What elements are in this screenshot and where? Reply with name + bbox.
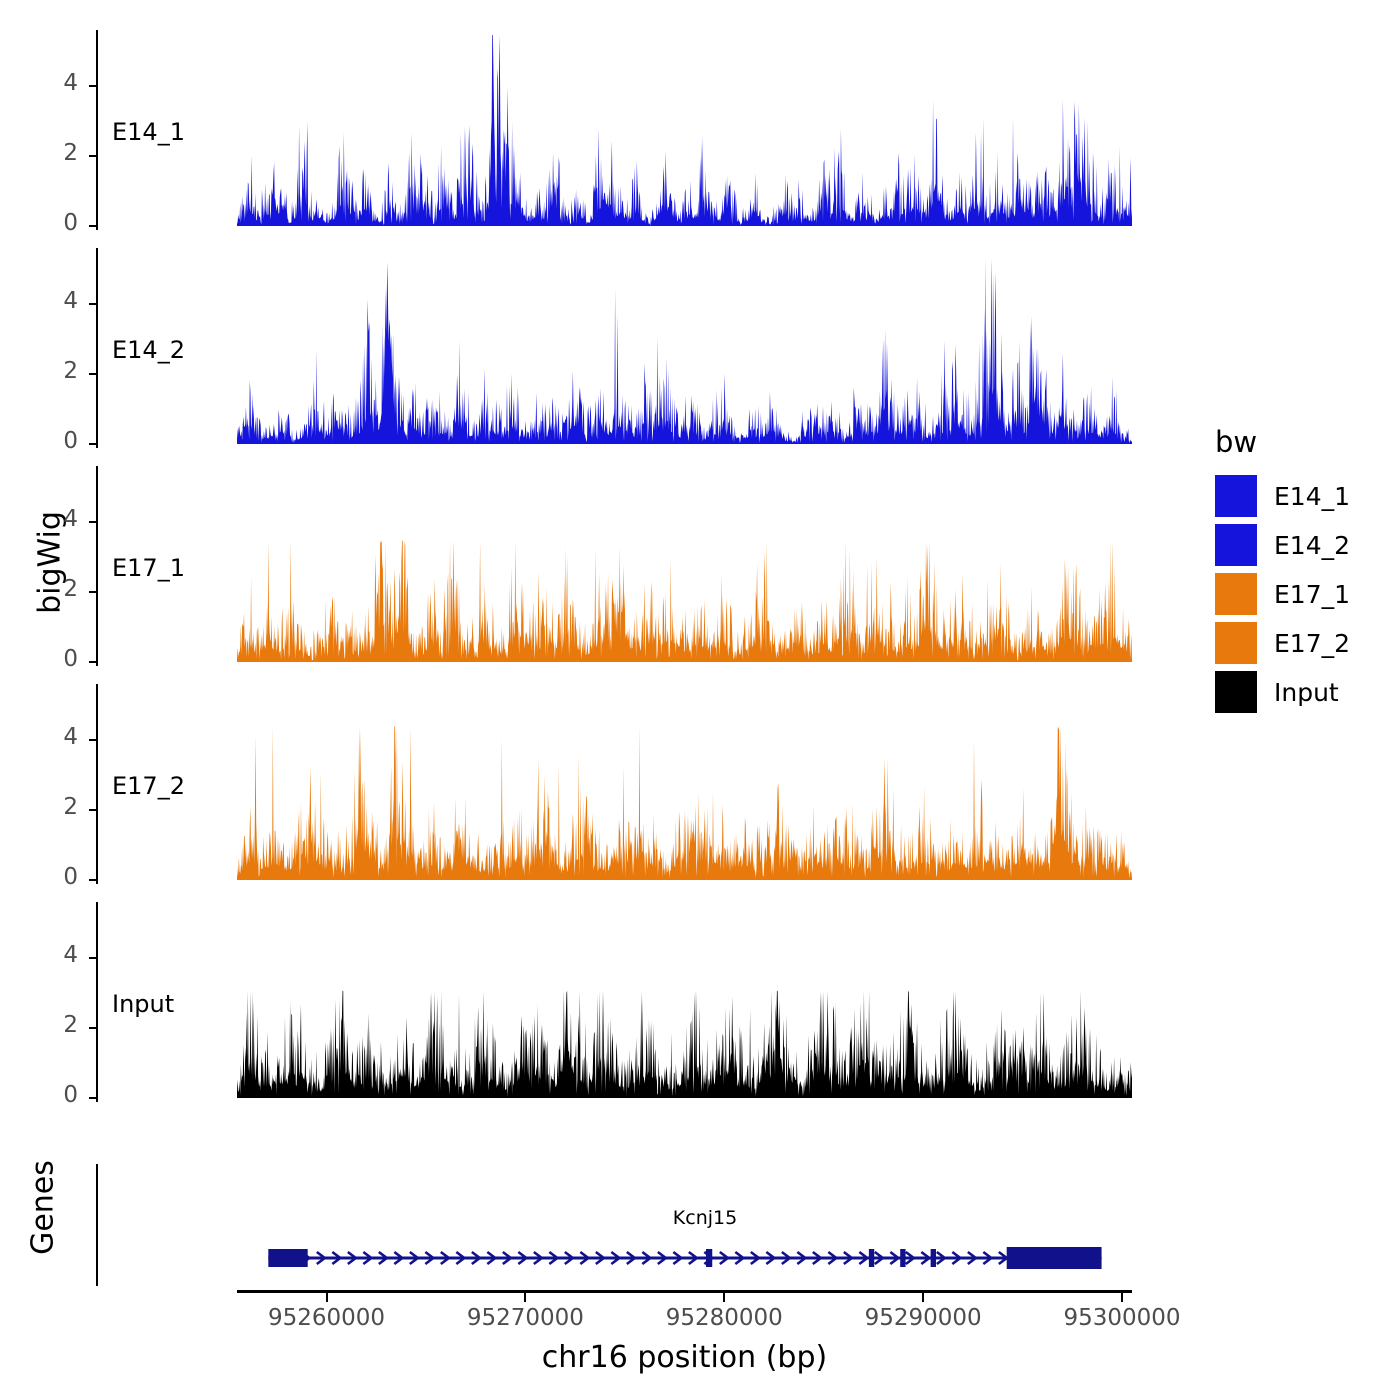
y-tick	[89, 521, 96, 523]
y-tick	[89, 739, 96, 741]
y-tick-label: 4	[16, 288, 78, 314]
signal-area-e17_1	[237, 466, 1132, 664]
y-axis-line	[96, 30, 98, 230]
legend-item-input[interactable]: Input	[1215, 671, 1339, 713]
gene-exon	[706, 1249, 712, 1267]
y-tick-label: 4	[16, 70, 78, 96]
y-tick	[89, 957, 96, 959]
y-tick-label: 2	[16, 358, 78, 384]
y-tick	[89, 879, 96, 881]
x-tick	[723, 1293, 725, 1302]
legend-title: bw	[1215, 425, 1257, 459]
gene-exon	[900, 1249, 905, 1267]
y-tick	[89, 1027, 96, 1029]
x-axis-line	[237, 1290, 1132, 1293]
legend-item-e14_2[interactable]: E14_2	[1215, 524, 1350, 566]
gene-exon	[1007, 1247, 1102, 1269]
y-tick	[89, 661, 96, 663]
x-axis-title: chr16 position (bp)	[237, 1340, 1132, 1375]
track-panel-e17_1: 024E17_1	[0, 466, 1180, 666]
y-tick	[89, 1097, 96, 1099]
legend-label: E17_1	[1274, 580, 1350, 609]
track-panel-e14_2: 024E14_2	[0, 248, 1180, 448]
y-tick-label: 0	[16, 428, 78, 454]
y-tick-label: 0	[16, 646, 78, 672]
genes-axis-line	[96, 1164, 98, 1286]
legend-swatch	[1215, 671, 1257, 713]
x-tick	[524, 1293, 526, 1302]
y-tick-label: 2	[16, 140, 78, 166]
legend: bw E14_1E14_2E17_1E17_2Input	[1205, 425, 1400, 715]
track-label-e17_2: E17_2	[112, 772, 185, 800]
signal-area-e14_1	[237, 30, 1132, 228]
track-label-e17_1: E17_1	[112, 554, 185, 582]
y-tick-label: 4	[16, 724, 78, 750]
signal-area-e14_2	[237, 248, 1132, 446]
y-axis-line	[96, 684, 98, 884]
legend-item-e17_1[interactable]: E17_1	[1215, 573, 1350, 615]
x-tick-label: 95260000	[227, 1305, 427, 1331]
gene-exon	[931, 1249, 936, 1267]
x-tick	[326, 1293, 328, 1302]
legend-label: E14_1	[1274, 482, 1350, 511]
gene-exon	[869, 1249, 874, 1267]
track-panel-e17_2: 024E17_2	[0, 684, 1180, 884]
x-tick-label: 95290000	[823, 1305, 1023, 1331]
y-tick	[89, 443, 96, 445]
x-tick-label: 95280000	[624, 1305, 824, 1331]
y-tick-label: 2	[16, 1012, 78, 1038]
y-tick-label: 0	[16, 864, 78, 890]
x-tick	[1121, 1293, 1123, 1302]
legend-label: E14_2	[1274, 531, 1350, 560]
gene-label: Kcnj15	[605, 1207, 805, 1229]
y-tick-label: 2	[16, 576, 78, 602]
y-axis-line	[96, 466, 98, 666]
y-axis-line	[96, 248, 98, 448]
legend-swatch	[1215, 573, 1257, 615]
signal-area-e17_2	[237, 684, 1132, 882]
legend-swatch	[1215, 475, 1257, 517]
y-tick-label: 0	[16, 1082, 78, 1108]
legend-label: Input	[1274, 678, 1339, 707]
x-tick	[922, 1293, 924, 1302]
y-tick-label: 4	[16, 506, 78, 532]
legend-item-e17_2[interactable]: E17_2	[1215, 622, 1350, 664]
track-panel-input: 024Input	[0, 902, 1180, 1102]
y-tick-label: 4	[16, 942, 78, 968]
gene-exon	[268, 1249, 307, 1267]
track-label-e14_2: E14_2	[112, 336, 185, 364]
track-label-e14_1: E14_1	[112, 118, 185, 146]
y-tick	[89, 85, 96, 87]
legend-label: E17_2	[1274, 629, 1350, 658]
legend-swatch	[1215, 622, 1257, 664]
y-tick	[89, 373, 96, 375]
y-tick	[89, 225, 96, 227]
y-tick-label: 0	[16, 210, 78, 236]
track-label-input: Input	[112, 990, 174, 1018]
y-tick	[89, 591, 96, 593]
x-tick-label: 95270000	[425, 1305, 625, 1331]
gene-model[interactable]	[237, 1238, 1132, 1278]
genes-panel: Kcnj15	[0, 1160, 1180, 1290]
legend-item-e14_1[interactable]: E14_1	[1215, 475, 1350, 517]
y-tick	[89, 809, 96, 811]
track-panel-e14_1: 024E14_1	[0, 30, 1180, 230]
x-tick-label: 95300000	[1022, 1305, 1222, 1331]
y-tick	[89, 155, 96, 157]
y-tick-label: 2	[16, 794, 78, 820]
y-axis-line	[96, 902, 98, 1102]
signal-area-input	[237, 902, 1132, 1100]
y-tick	[89, 303, 96, 305]
legend-swatch	[1215, 524, 1257, 566]
